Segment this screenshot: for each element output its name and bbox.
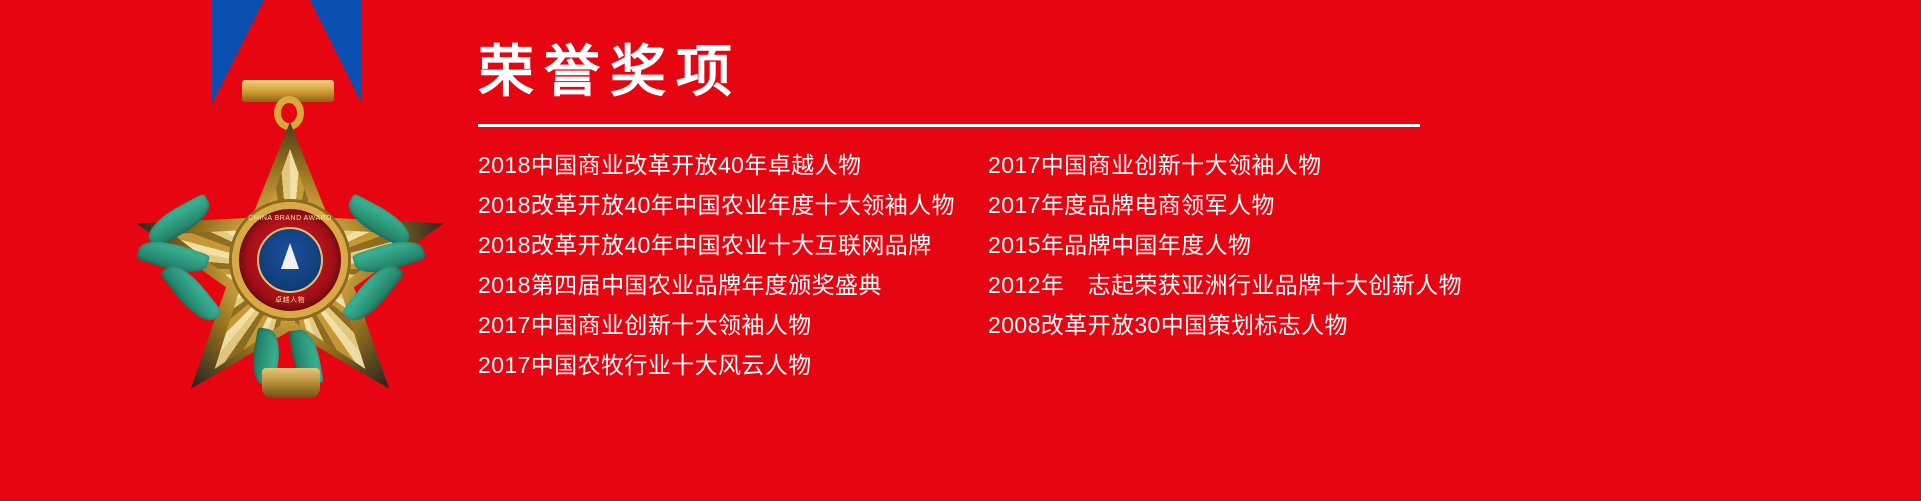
award-item: 2017中国商业创新十大领袖人物 — [988, 145, 1508, 185]
laurel-leaf-icon — [142, 193, 216, 249]
laurel-leaf-icon — [159, 257, 223, 328]
medal-star-body — [130, 122, 450, 412]
ribbon-left-fold — [212, 0, 272, 104]
ribbon-right-fold — [302, 0, 362, 104]
award-item: 2018改革开放40年中国农业十大互联网品牌 — [478, 225, 988, 265]
honor-awards-banner: CHINA BRAND AWARD 卓越人物 荣誉奖项 2018中国商业改革开放… — [0, 0, 1921, 501]
honor-medal-illustration: CHINA BRAND AWARD 卓越人物 — [120, 0, 480, 414]
awards-right-column: 2017中国商业创新十大领袖人物 2017年度品牌电商领军人物 2015年品牌中… — [988, 145, 1508, 385]
medal-star-rays — [160, 144, 420, 394]
ribbon-gold-loop — [274, 96, 304, 130]
award-item: 2018中国商业改革开放40年卓越人物 — [478, 145, 988, 185]
award-item: 2012年 志起荣获亚洲行业品牌十大创新人物 — [988, 265, 1508, 305]
laurel-leaf-icon — [342, 193, 416, 249]
medal-emblem-figure-icon — [281, 243, 299, 269]
medal-emblem-bottom-text: 卓越人物 — [239, 295, 341, 305]
medal-base — [262, 368, 320, 398]
ribbon-gold-bar — [242, 80, 334, 102]
laurel-leaf-icon — [352, 234, 427, 280]
medal-center-emblem: CHINA BRAND AWARD 卓越人物 — [232, 202, 348, 318]
laurel-leaf-icon — [248, 327, 283, 387]
page-title: 荣誉奖项 — [478, 40, 1898, 114]
medal-emblem-inner-disc — [257, 227, 323, 293]
award-item: 2015年品牌中国年度人物 — [988, 225, 1508, 265]
medal-emblem-top-text: CHINA BRAND AWARD — [239, 215, 341, 222]
awards-list: 2018中国商业改革开放40年卓越人物 2018改革开放40年中国农业年度十大领… — [478, 145, 1898, 385]
award-item: 2008改革开放30中国策划标志人物 — [988, 305, 1508, 345]
banner-content: 荣誉奖项 2018中国商业改革开放40年卓越人物 2018改革开放40年中国农业… — [478, 40, 1898, 385]
award-item: 2017中国农牧行业十大风云人物 — [478, 345, 988, 385]
award-item: 2018改革开放40年中国农业年度十大领袖人物 — [478, 185, 988, 225]
award-item: 2018第四届中国农业品牌年度颁奖盛典 — [478, 265, 988, 305]
award-item: 2017年度品牌电商领军人物 — [988, 185, 1508, 225]
laurel-leaf-icon — [288, 327, 323, 387]
title-divider — [478, 124, 1420, 127]
awards-left-column: 2018中国商业改革开放40年卓越人物 2018改革开放40年中国农业年度十大领… — [478, 145, 988, 385]
medal-ribbon — [212, 0, 362, 104]
laurel-leaf-icon — [341, 257, 405, 328]
award-item: 2017中国商业创新十大领袖人物 — [478, 305, 988, 345]
laurel-leaf-icon — [136, 234, 211, 280]
